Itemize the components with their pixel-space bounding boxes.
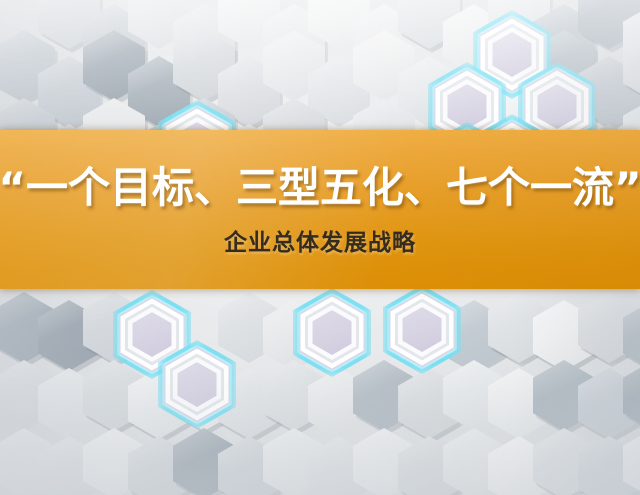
page-title: “一个目标、三型五化、七个一流” [0,166,640,211]
page-subtitle: 企业总体发展战略 [224,223,416,257]
title-band-content: “一个目标、三型五化、七个一流” 企业总体发展战略 [0,130,640,291]
title-band: “一个目标、三型五化、七个一流” 企业总体发展战略 [0,130,640,289]
title-slide: “一个目标、三型五化、七个一流” 企业总体发展战略 [0,0,640,495]
